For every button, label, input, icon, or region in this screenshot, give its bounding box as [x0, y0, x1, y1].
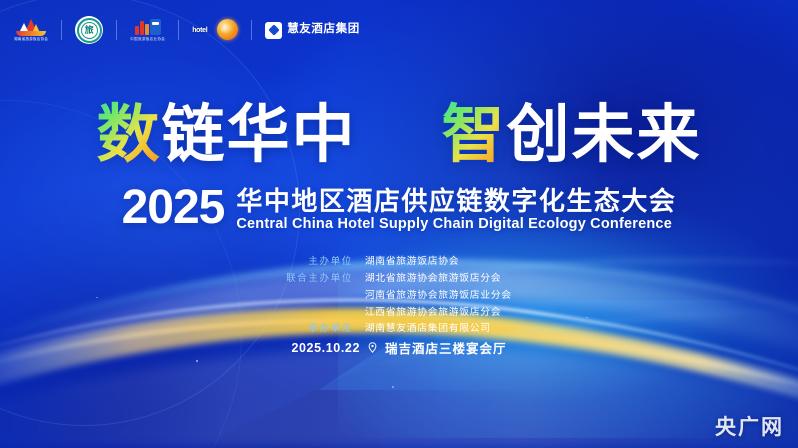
organizer-value: 河南省旅游协会旅游饭店业分会 [365, 288, 512, 304]
logo-tourism-seal: 旅 [75, 13, 103, 47]
organizer-row: 河南省旅游协会旅游饭店业分会 [286, 288, 512, 304]
subtitle-block: 2025 华中地区酒店供应链数字化生态大会 Central China Hote… [0, 186, 798, 233]
sparkle-dot [196, 360, 198, 362]
sponsor-logo-bar: 湖南省旅游饭店协会 旅 中国旅游饭店业协会 hotel [14, 13, 360, 47]
event-date: 2025.10.22 [291, 341, 360, 355]
logo-caption: 中国旅游饭店业协会 [130, 37, 165, 42]
organizer-row: 联合主办单位 湖北省旅游协会旅游饭店分会 [286, 271, 512, 287]
conference-backdrop: 湖南省旅游饭店协会 旅 中国旅游饭店业协会 hotel [0, 0, 798, 448]
page-title: 数链华中 智创未来 [0, 104, 798, 167]
subtitle-chinese: 华中地区酒店供应链数字化生态大会 [236, 188, 676, 215]
event-datetime-venue: 2025.10.22 瑞吉酒店三楼宴会厅 [0, 338, 798, 357]
organizer-value: 湖北省旅游协会旅游饭店分会 [365, 271, 512, 287]
organizer-list: 主办单位 湖南省旅游饭店协会 联合主办单位 湖北省旅游协会旅游饭店分会 河南省旅… [0, 253, 798, 338]
logo-divider [116, 20, 117, 40]
organizer-label [286, 305, 365, 321]
organizer-label: 联合主办单位 [286, 271, 365, 287]
logo-hunan-tourism-mark: 湖南省旅游饭店协会 [14, 13, 48, 47]
organizer-label: 主办单位 [286, 254, 365, 270]
organizer-label [286, 288, 365, 304]
logo-divider [61, 20, 62, 40]
subtitle-english: Central China Hotel Supply Chain Digital… [236, 217, 676, 233]
headline-text-1: 链华中 [161, 100, 356, 170]
organizer-row: 承办单位 湖南慧友酒店集团有限公司 [286, 321, 512, 337]
organizer-value: 湖南省旅游饭店协会 [365, 254, 512, 270]
organizer-label: 承办单位 [286, 321, 365, 337]
logo-huiyou-hotel-group: 慧友酒店集团 [265, 13, 360, 47]
logo-caption: 湖南省旅游饭店协会 [14, 37, 48, 42]
event-year: 2025 [122, 186, 225, 230]
watermark: 央广网 [715, 417, 784, 438]
organizer-row: 江西省旅游协会旅游饭店分会 [286, 305, 512, 321]
diamond-mark-icon [265, 22, 282, 39]
organizer-value: 江西省旅游协会旅游饭店分会 [365, 305, 512, 321]
logo-word: hotel [192, 27, 207, 34]
event-venue: 瑞吉酒店三楼宴会厅 [385, 338, 507, 357]
headline-gradient-char-2: 智 [442, 100, 507, 170]
color-blocks-icon [134, 19, 162, 35]
logo-hotel-association-blocks: 中国旅游饭店业协会 [130, 13, 165, 47]
globe-icon [217, 19, 238, 40]
organizer-value: 湖南慧友酒店集团有限公司 [365, 321, 512, 337]
seal-glyph: 旅 [85, 26, 94, 35]
logo-divider [178, 20, 179, 40]
location-pin-icon [367, 342, 378, 353]
headline-gradient-char-1: 数 [96, 100, 161, 170]
headline-text-2: 创未来 [507, 100, 702, 170]
logo-word: 慧友酒店集团 [287, 24, 360, 36]
logo-globe-wordmark: hotel [192, 13, 238, 47]
logo-divider [251, 20, 252, 40]
organizer-row: 主办单位 湖南省旅游饭店协会 [286, 254, 512, 270]
mountain-wave-icon [16, 19, 46, 36]
circular-seal-icon: 旅 [75, 16, 103, 44]
sparkle-dot [392, 386, 394, 388]
